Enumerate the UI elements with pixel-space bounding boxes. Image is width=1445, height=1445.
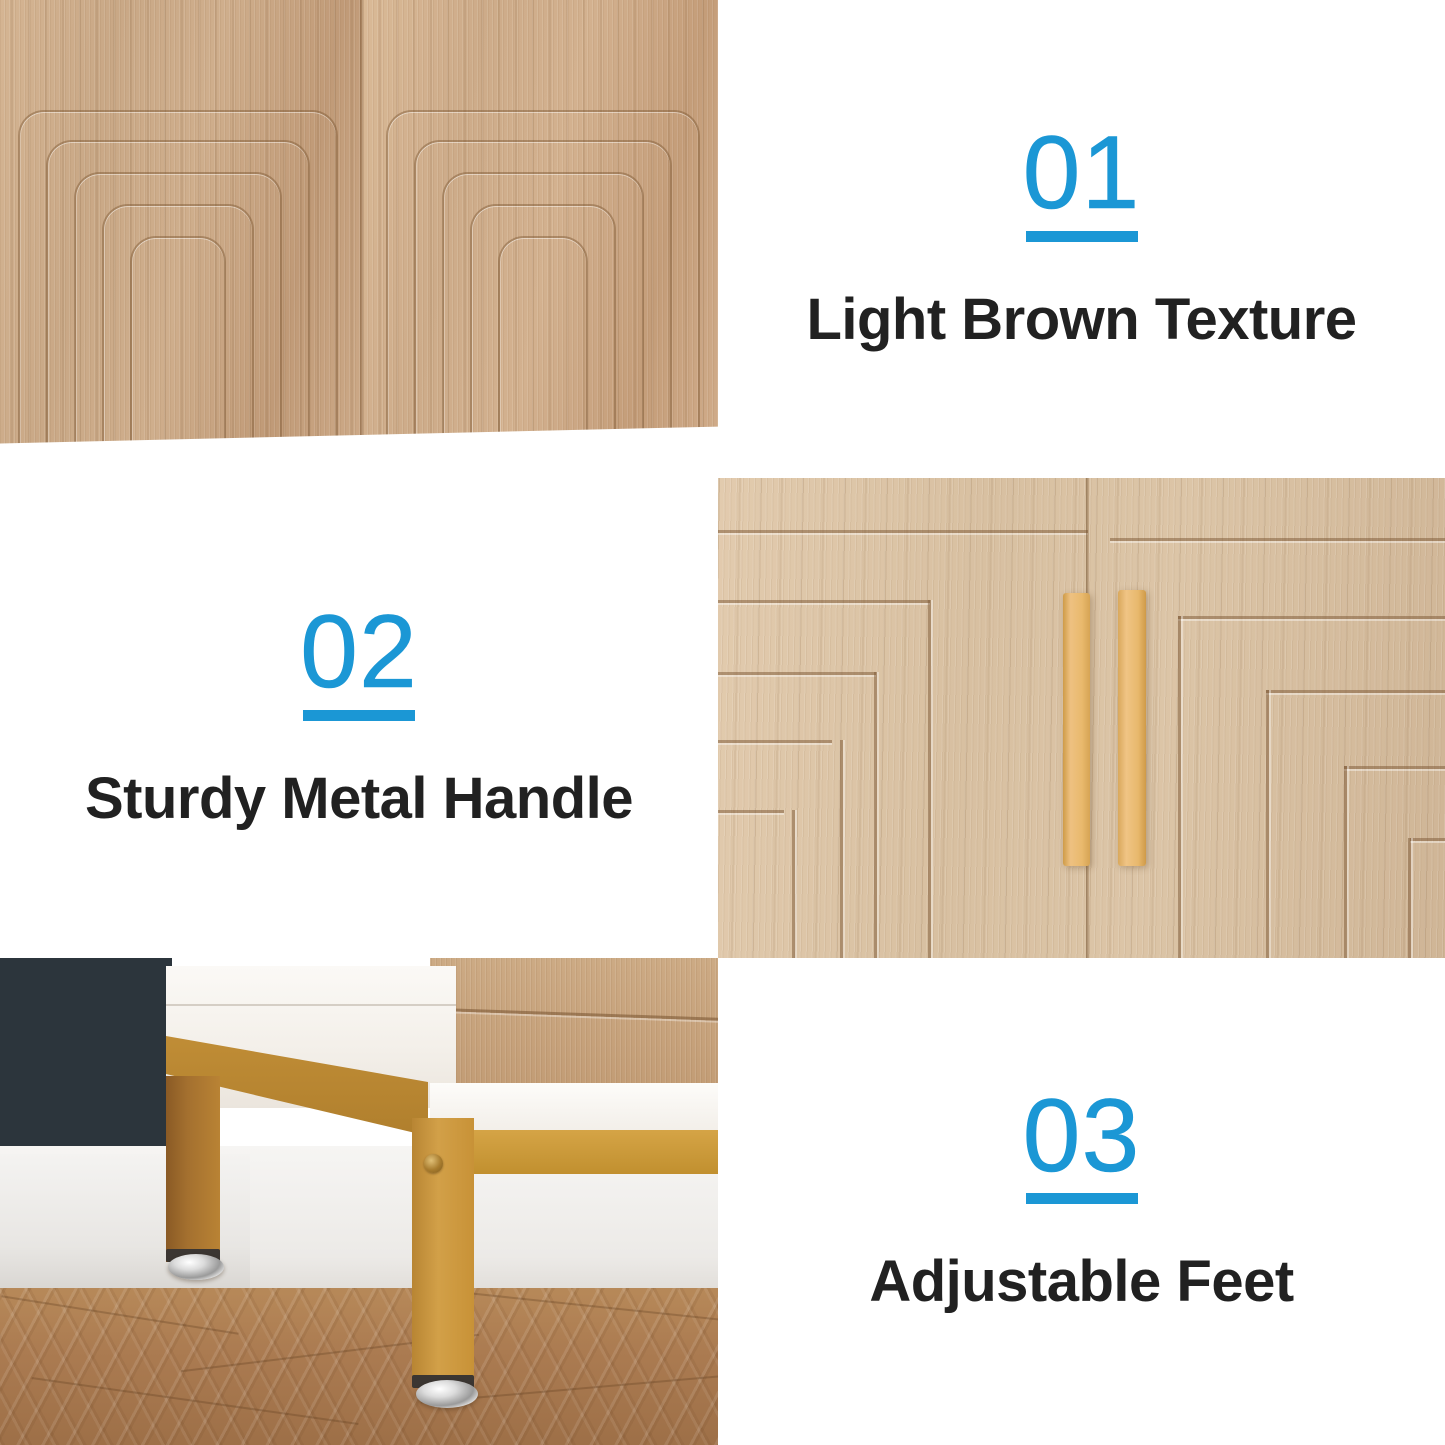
groove-step-l1 — [718, 530, 1088, 533]
groove-step-r5 — [1410, 838, 1445, 841]
metal-handle-right[interactable] — [1118, 590, 1146, 866]
cabinet-door-left — [0, 0, 362, 465]
leg-surface — [412, 1118, 474, 1388]
feature-number-01: 01 — [1023, 125, 1141, 223]
herringbone-wood-floor — [0, 1288, 718, 1445]
cabinet-body-edge-line — [166, 1004, 456, 1006]
gold-leg-front — [412, 1118, 474, 1388]
floor-plank-seam — [31, 1377, 358, 1425]
groove-step-r2-vert — [1178, 616, 1181, 958]
gold-leg-rear — [166, 1076, 220, 1262]
feature-text-01: 01 Light Brown Texture — [718, 0, 1445, 478]
feature-image-sturdy-metal-handle — [718, 478, 1445, 958]
metal-handle-left[interactable] — [1063, 593, 1090, 866]
groove-step-l2 — [718, 600, 930, 603]
feature-title-01: Light Brown Texture — [806, 286, 1356, 353]
groove-step-l4 — [718, 740, 832, 743]
door-groove-inner — [130, 236, 226, 465]
leg-surface — [166, 1076, 220, 1262]
groove-step-r4 — [1344, 766, 1445, 769]
groove-step-r2 — [1178, 616, 1445, 619]
groove-step-l3 — [718, 672, 876, 675]
feature-title-02: Sturdy Metal Handle — [85, 765, 633, 832]
feature-infographic: 01 Light Brown Texture 02 Sturdy Metal H… — [0, 0, 1445, 1445]
adjustable-foot-rear — [168, 1254, 224, 1280]
feature-image-light-brown-texture — [0, 0, 718, 478]
feature-text-02: 02 Sturdy Metal Handle — [0, 478, 718, 958]
groove-step-l5-vert — [792, 810, 795, 958]
feature-badge-01: 01 — [1023, 125, 1141, 242]
groove-step-l5 — [718, 810, 784, 813]
adjustable-foot-front — [416, 1380, 478, 1408]
groove-step-l4-vert — [840, 740, 843, 958]
feature-badge-02: 02 — [300, 604, 418, 721]
cabinet-door-wood — [430, 958, 718, 1090]
frame-screw — [424, 1154, 443, 1173]
groove-step-l2-vert — [928, 600, 931, 958]
door-center-seam — [360, 0, 363, 478]
gold-frame-front-rail — [440, 1130, 718, 1174]
feature-text-03: 03 Adjustable Feet — [718, 958, 1445, 1445]
floor-plank-seam — [1, 1295, 238, 1335]
feature-number-underline — [1026, 231, 1138, 242]
feature-number-underline — [303, 710, 415, 721]
groove-step-r3-vert — [1266, 690, 1269, 958]
groove-step-l3-vert — [874, 672, 877, 958]
feature-badge-03: 03 — [1023, 1088, 1141, 1205]
groove-step-r3 — [1266, 690, 1445, 693]
feature-image-adjustable-feet — [0, 958, 718, 1445]
floor-plank-seam — [471, 1292, 718, 1321]
feature-title-03: Adjustable Feet — [869, 1248, 1293, 1315]
cabinet-doors — [0, 0, 718, 478]
groove-step-r4-vert — [1344, 766, 1347, 958]
groove-step-r5-vert — [1408, 838, 1411, 958]
groove-step-r1 — [1110, 538, 1445, 541]
feature-number-underline — [1026, 1193, 1138, 1204]
feature-number-02: 02 — [300, 604, 418, 702]
feature-number-03: 03 — [1023, 1088, 1141, 1186]
cabinet-door-right — [362, 0, 718, 465]
wall-navy — [0, 958, 172, 1154]
